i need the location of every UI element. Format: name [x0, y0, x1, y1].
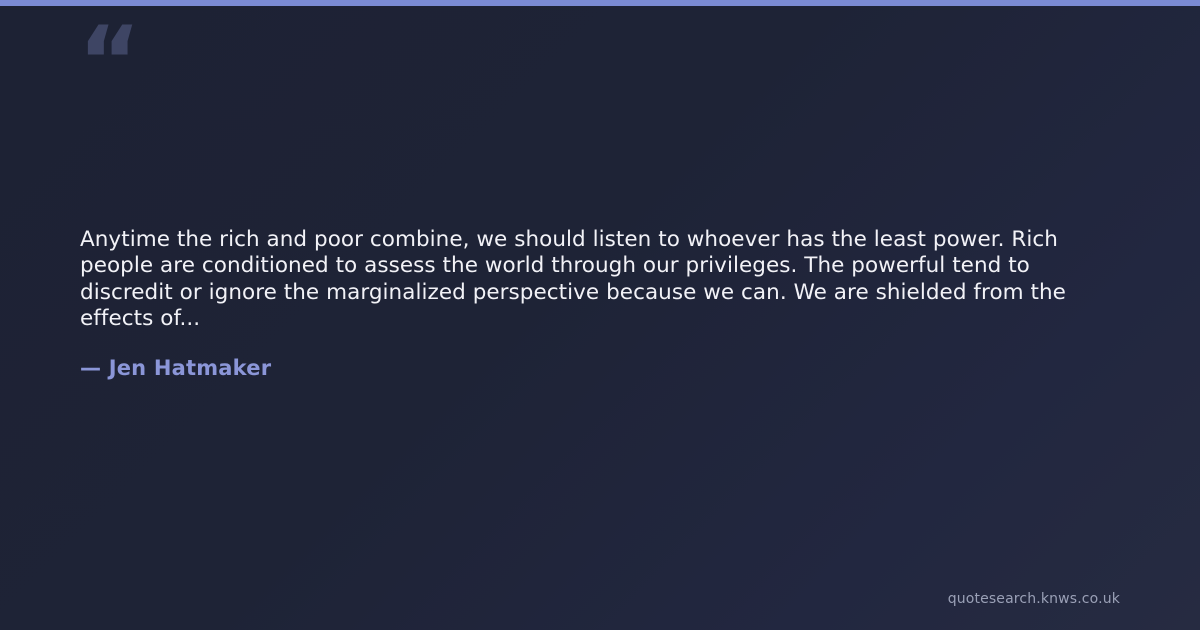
- opening-double-quote-icon: “: [78, 14, 139, 110]
- quote-card: “ Anytime the rich and poor combine, we …: [0, 0, 1200, 630]
- quote-text: Anytime the rich and poor combine, we sh…: [80, 227, 1126, 333]
- author-name: Jen Hatmaker: [109, 356, 272, 380]
- top-accent-bar: [0, 0, 1200, 6]
- source-url: quotesearch.knws.co.uk: [948, 590, 1120, 608]
- quote-author: — Jen Hatmaker: [80, 354, 271, 382]
- author-em-dash: —: [80, 356, 101, 380]
